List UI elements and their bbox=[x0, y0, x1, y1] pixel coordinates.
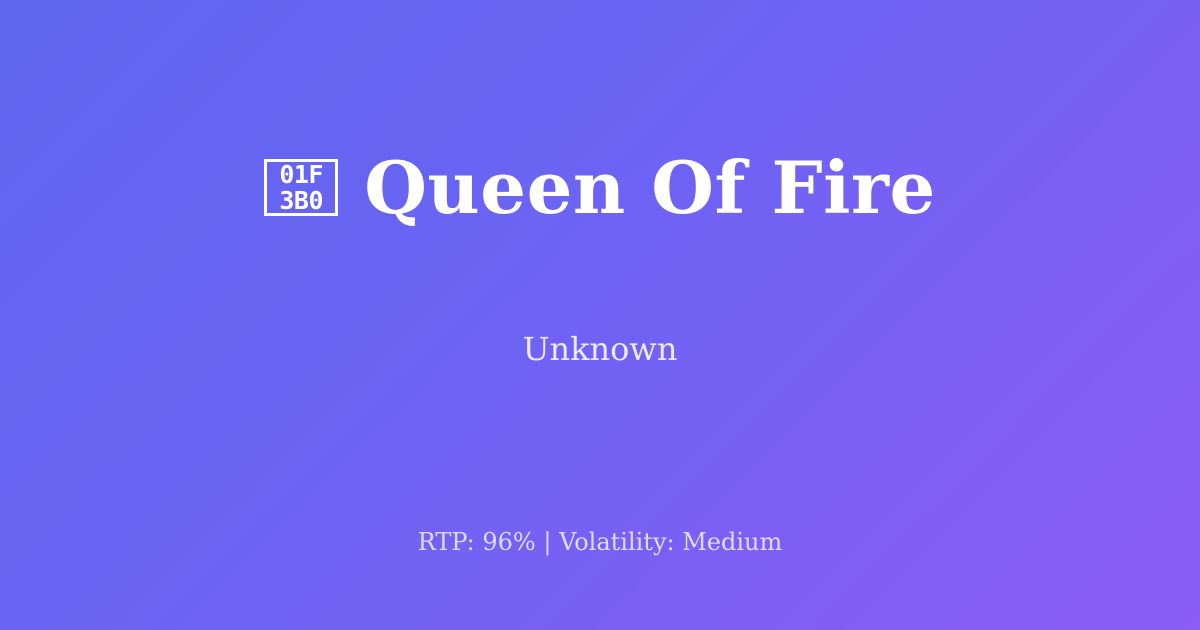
og-share-card: 01F 3B0 Queen Of Fire Unknown RTP: 96% |… bbox=[0, 0, 1200, 630]
hero-block: 01F 3B0 Queen Of Fire Unknown bbox=[0, 0, 1200, 470]
title-row: 01F 3B0 Queen Of Fire bbox=[48, 102, 1152, 274]
game-meta-line: RTP: 96% | Volatility: Medium bbox=[0, 524, 1200, 560]
slot-machine-icon-hex-top: 01F bbox=[279, 162, 323, 188]
page-title: Queen Of Fire bbox=[364, 150, 936, 226]
slot-machine-icon: 01F 3B0 bbox=[264, 159, 338, 216]
game-provider: Unknown bbox=[523, 330, 678, 368]
slot-machine-icon-hex-bottom: 3B0 bbox=[279, 188, 323, 214]
